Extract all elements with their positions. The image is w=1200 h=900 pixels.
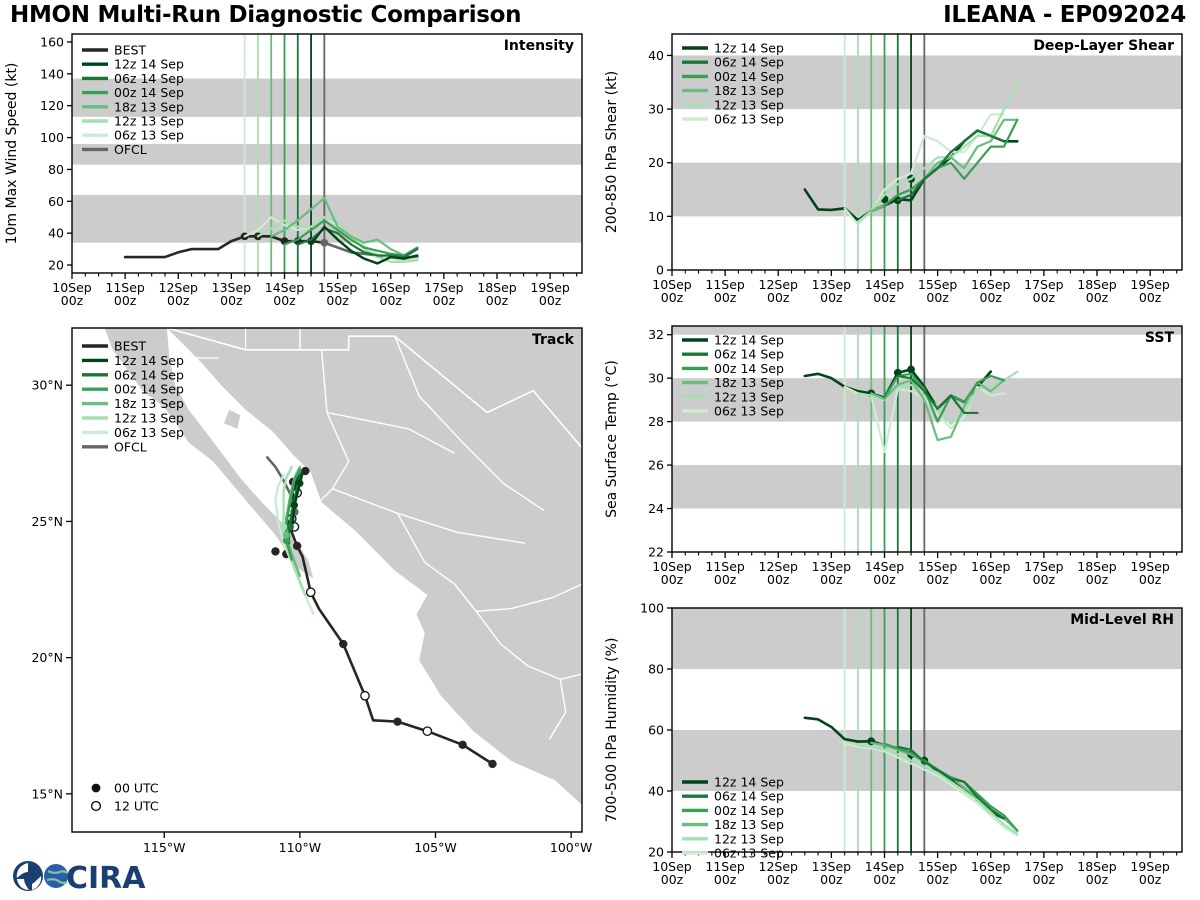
marker-00utc-icon [92, 784, 101, 793]
svg-text:00z: 00z [1139, 572, 1162, 587]
panel-title: SST [1145, 330, 1175, 346]
svg-text:00z: 00z [1086, 290, 1109, 305]
svg-text:25°N: 25°N [31, 514, 63, 529]
legend-label: 12z 14 Sep [714, 41, 784, 56]
legend-label: 06z 13 Sep [714, 112, 784, 127]
panel-title: Track [532, 332, 575, 348]
init-time-lines [845, 326, 925, 552]
svg-text:00z: 00z [767, 872, 790, 887]
svg-text:40: 40 [648, 48, 664, 63]
legend-label: 18z 13 Sep [714, 83, 784, 98]
svg-text:00z: 00z [873, 572, 896, 587]
track-marker-00utc [488, 760, 496, 768]
legend-label: 06z 13 Sep [714, 846, 784, 861]
track-marker-00utc [271, 547, 279, 555]
panel-title: Intensity [504, 38, 574, 54]
noaa-icon [13, 861, 43, 891]
legend-label: 00z 14 Sep [114, 382, 184, 397]
svg-text:00z: 00z [926, 572, 949, 587]
page-title-right: ILEANA - EP092024 [943, 2, 1186, 28]
track-marker-12utc [423, 727, 431, 735]
svg-text:00z: 00z [433, 293, 456, 308]
legend-label: 12z 14 Sep [714, 775, 784, 790]
svg-text:00z: 00z [714, 290, 737, 305]
track-model-marker [291, 501, 298, 508]
panel-rh: 20406080100700-500 hPa Humidity (%)10Sep… [600, 600, 1200, 900]
y-axis: 222426283032 [648, 327, 672, 559]
svg-text:00z: 00z [980, 872, 1003, 887]
track-marker-00utc [393, 717, 401, 725]
svg-text:CIRA: CIRA [66, 861, 146, 896]
svg-text:105°W: 105°W [414, 840, 456, 855]
svg-text:20°N: 20°N [31, 650, 63, 665]
svg-text:00z: 00z [873, 872, 896, 887]
svg-text:80: 80 [648, 662, 664, 677]
y-axis-label: 700-500 hPa Humidity (%) [604, 638, 620, 823]
svg-text:00z: 00z [1033, 572, 1056, 587]
svg-text:22: 22 [648, 545, 664, 560]
x-axis: 10Sep00z11Sep00z12Sep00z13Sep00z14Sep00z… [652, 552, 1176, 587]
x-axis: 10Sep00z11Sep00z12Sep00z13Sep00z14Sep00z… [52, 273, 576, 308]
svg-text:00z: 00z [820, 872, 843, 887]
svg-text:00z: 00z [539, 293, 562, 308]
legend-label: 12z 14 Sep [114, 57, 184, 72]
y-axis: 20406080100 [640, 601, 672, 860]
svg-text:00z: 00z [61, 293, 84, 308]
svg-text:30°N: 30°N [31, 378, 63, 393]
svg-text:40: 40 [48, 226, 64, 241]
track-model-marker [296, 480, 303, 487]
svg-text:100: 100 [40, 130, 64, 145]
svg-text:40: 40 [648, 784, 664, 799]
svg-text:00z: 00z [980, 290, 1003, 305]
marker-00utc-label: 00 UTC [114, 781, 159, 796]
svg-text:00z: 00z [661, 290, 684, 305]
svg-text:00z: 00z [714, 572, 737, 587]
svg-text:60: 60 [48, 194, 64, 209]
svg-text:24: 24 [648, 501, 664, 516]
legend-label: 00z 14 Sep [714, 803, 784, 818]
svg-text:20: 20 [648, 845, 664, 860]
svg-text:00z: 00z [1033, 290, 1056, 305]
panel-title: Mid-Level RH [1070, 612, 1174, 628]
svg-text:00z: 00z [767, 290, 790, 305]
svg-text:00z: 00z [926, 290, 949, 305]
svg-text:00z: 00z [820, 572, 843, 587]
svg-text:00z: 00z [486, 293, 509, 308]
legend-label: 00z 14 Sep [714, 69, 784, 84]
svg-text:60: 60 [648, 723, 664, 738]
y-axis-label: 10m Max Wind Speed (kt) [4, 63, 20, 245]
svg-text:20: 20 [648, 155, 664, 170]
svg-text:160: 160 [40, 34, 64, 49]
svg-text:00z: 00z [273, 293, 296, 308]
marker-12utc-icon [92, 802, 101, 811]
legend-label: 12z 14 Sep [714, 333, 784, 348]
chart-rh: 20406080100700-500 hPa Humidity (%)10Sep… [600, 600, 1200, 900]
y-axis-label: 200-850 hPa Shear (kt) [604, 71, 620, 233]
legend-label: 18z 13 Sep [714, 375, 784, 390]
legend-label: 12z 13 Sep [114, 114, 184, 129]
svg-text:100: 100 [640, 601, 664, 616]
track-marker-12utc [361, 692, 369, 700]
svg-text:00z: 00z [380, 293, 403, 308]
legend-label: 12z 13 Sep [714, 831, 784, 846]
track-marker-12utc [307, 588, 315, 596]
svg-text:140: 140 [40, 66, 64, 81]
legend-label: 06z 14 Sep [114, 71, 184, 86]
legend-label: 06z 13 Sep [114, 425, 184, 440]
track-marker-00utc [293, 542, 301, 550]
track-model-marker [280, 523, 287, 530]
svg-text:30: 30 [648, 371, 664, 386]
legend-label: BEST [114, 339, 146, 354]
svg-text:00z: 00z [661, 572, 684, 587]
x-axis: 10Sep00z11Sep00z12Sep00z13Sep00z14Sep00z… [652, 270, 1176, 305]
svg-text:00z: 00z [1086, 872, 1109, 887]
svg-text:00z: 00z [820, 290, 843, 305]
panel-shear: 010203040200-850 hPa Shear (kt)10Sep00z1… [600, 26, 1200, 318]
legend-label: 12z 13 Sep [114, 411, 184, 426]
chart-shear: 010203040200-850 hPa Shear (kt)10Sep00z1… [600, 26, 1200, 318]
panel-track: 15°N20°N25°N30°N115°W110°W105°W100°WTrac… [0, 320, 600, 880]
legend-label: 06z 14 Sep [714, 55, 784, 70]
svg-text:10: 10 [648, 209, 664, 224]
legend-label: 18z 13 Sep [114, 396, 184, 411]
track-point-marker [321, 239, 328, 246]
legend-label: 06z 13 Sep [714, 404, 784, 419]
legend-label: 12z 14 Sep [114, 353, 184, 368]
y-axis: 010203040 [648, 48, 672, 278]
legend-label: 18z 13 Sep [714, 817, 784, 832]
legend-label: 12z 13 Sep [714, 97, 784, 112]
svg-text:00z: 00z [1139, 872, 1162, 887]
legend-label: 06z 14 Sep [714, 789, 784, 804]
svg-text:28: 28 [648, 414, 664, 429]
y-axis: 20406080100120140160 [40, 34, 72, 272]
page-title-left: HMON Multi-Run Diagnostic Comparison [10, 2, 521, 28]
svg-text:00z: 00z [767, 572, 790, 587]
svg-text:00z: 00z [926, 872, 949, 887]
legend-label: 06z 14 Sep [114, 367, 184, 382]
svg-text:30: 30 [648, 102, 664, 117]
track-model-marker [283, 531, 290, 538]
track-marker-00utc [339, 640, 347, 648]
legend-label: 00z 14 Sep [114, 85, 184, 100]
svg-text:00z: 00z [714, 872, 737, 887]
svg-text:32: 32 [648, 327, 664, 342]
svg-text:00z: 00z [873, 290, 896, 305]
marker-12utc-label: 12 UTC [114, 799, 159, 814]
track-marker-00utc [458, 741, 466, 749]
legend-label: 06z 13 Sep [114, 128, 184, 143]
svg-text:00z: 00z [661, 872, 684, 887]
y-axis-label: Sea Surface Temp (°C) [604, 360, 620, 518]
svg-text:100°W: 100°W [550, 840, 592, 855]
legend-label: OFCL [114, 142, 147, 157]
svg-text:120: 120 [40, 98, 64, 113]
track-point-marker [908, 366, 915, 373]
svg-text:20: 20 [48, 258, 64, 273]
legend-label: OFCL [114, 439, 147, 454]
svg-text:00z: 00z [220, 293, 243, 308]
svg-text:00z: 00z [1086, 572, 1109, 587]
legend-label: 00z 14 Sep [714, 361, 784, 376]
svg-text:00z: 00z [326, 293, 349, 308]
svg-text:26: 26 [648, 458, 664, 473]
panel-title: Deep-Layer Shear [1033, 38, 1174, 54]
panel-sst: 222426283032Sea Surface Temp (°C)10Sep00… [600, 318, 1200, 600]
legend-label: 12z 13 Sep [714, 389, 784, 404]
svg-text:0: 0 [656, 263, 664, 278]
chart-sst: 222426283032Sea Surface Temp (°C)10Sep00… [600, 318, 1200, 600]
track-model-marker [287, 523, 294, 530]
svg-text:00z: 00z [1139, 290, 1162, 305]
svg-text:80: 80 [48, 162, 64, 177]
svg-text:110°W: 110°W [279, 840, 321, 855]
panel-intensity: 2040608010012014016010m Max Wind Speed (… [0, 26, 600, 321]
svg-text:00z: 00z [1033, 872, 1056, 887]
legend-label: BEST [114, 43, 146, 58]
svg-text:00z: 00z [167, 293, 190, 308]
cira-icon: CIRA [44, 861, 146, 896]
legend-label: 18z 13 Sep [114, 99, 184, 114]
logo-group: CIRA [8, 855, 158, 897]
svg-text:15°N: 15°N [31, 786, 63, 801]
svg-text:00z: 00z [980, 572, 1003, 587]
chart-intensity: 2040608010012014016010m Max Wind Speed (… [0, 26, 600, 321]
legend-label: 06z 14 Sep [714, 347, 784, 362]
chart-track: 15°N20°N25°N30°N115°W110°W105°W100°WTrac… [0, 320, 600, 880]
svg-text:00z: 00z [114, 293, 137, 308]
svg-text:115°W: 115°W [143, 840, 185, 855]
